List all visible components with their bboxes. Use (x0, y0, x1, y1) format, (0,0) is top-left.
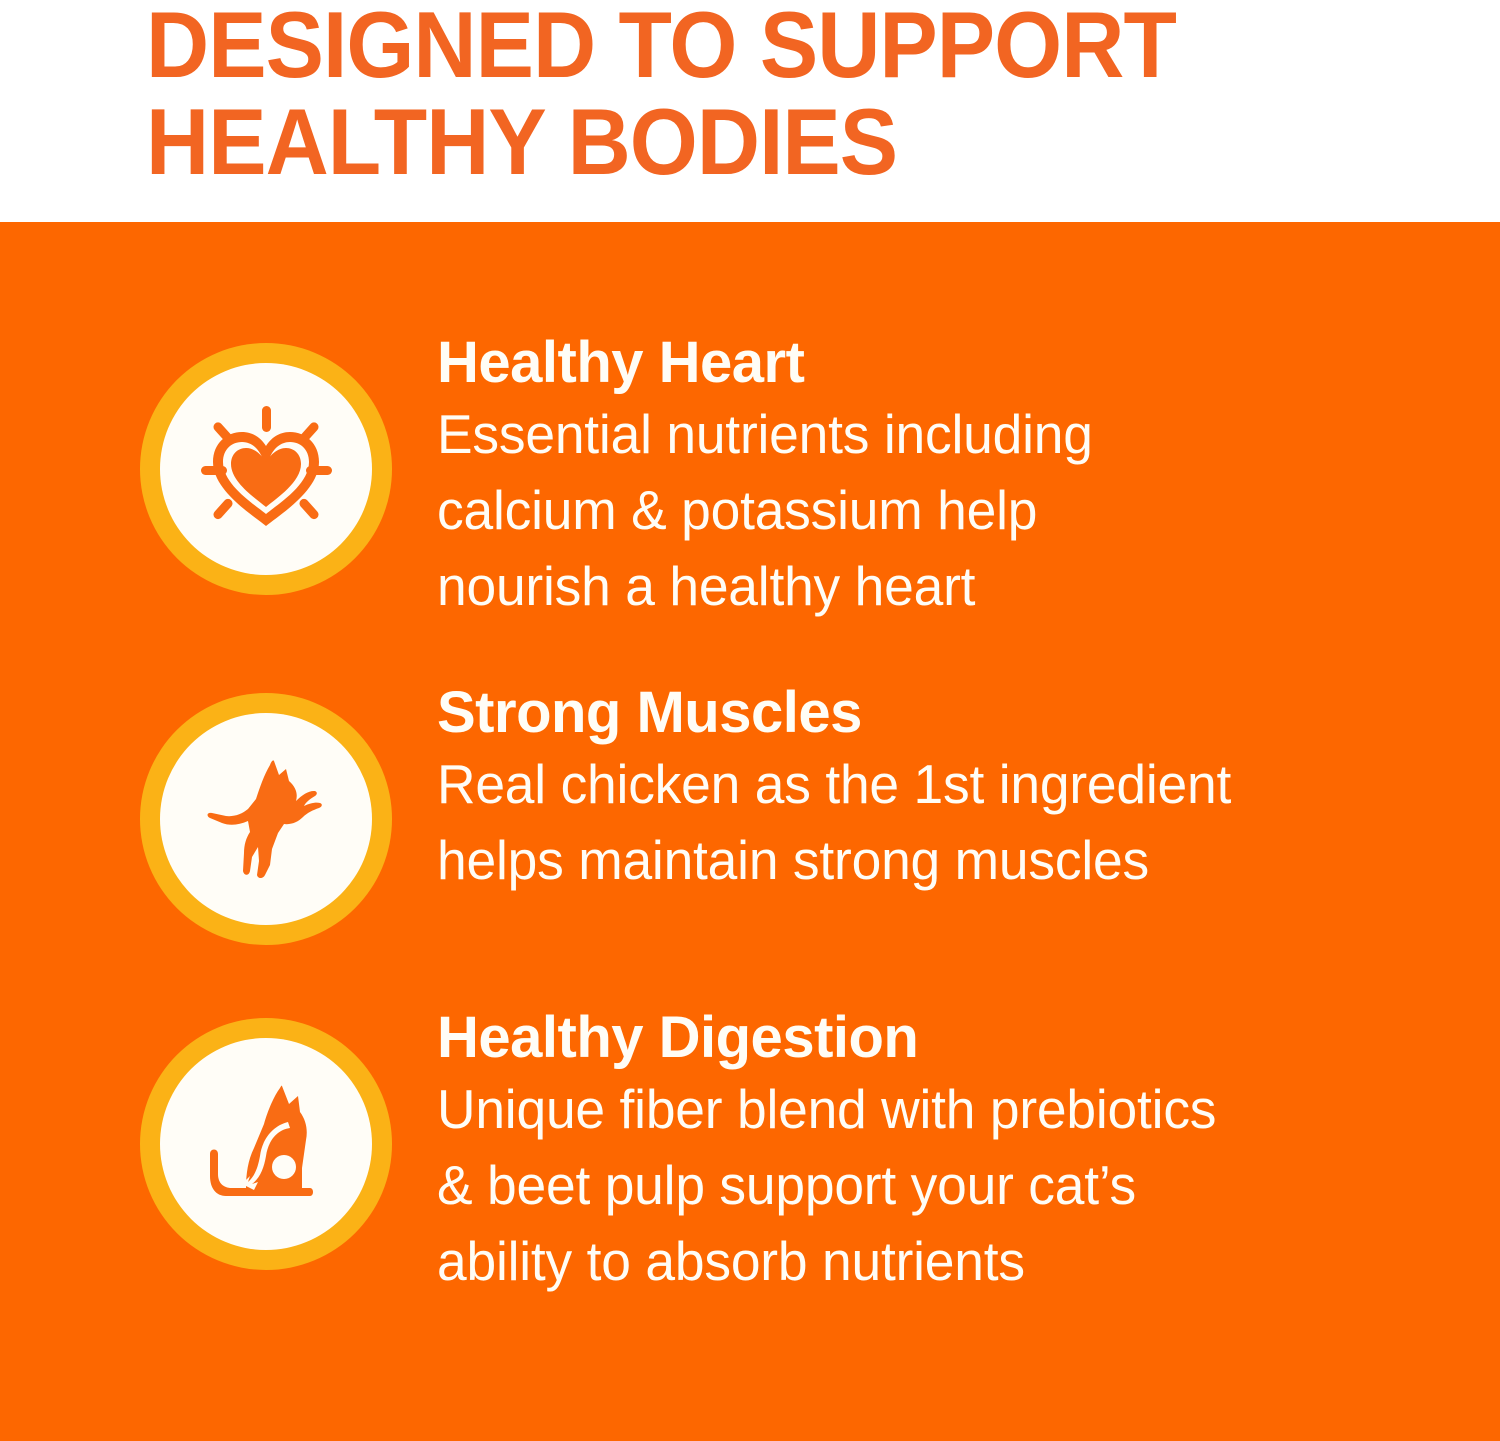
headline-band: DESIGNED TO SUPPORT HEALTHY BODIES (0, 0, 1500, 222)
leaping-cat-icon (186, 739, 346, 899)
feature-title: Healthy Heart (437, 332, 1447, 394)
badge-inner-circle (160, 363, 372, 575)
feature-description: Essential nutrients including calcium & … (437, 396, 1417, 624)
feature-icon-badge (140, 693, 392, 945)
badge-inner-circle (160, 713, 372, 925)
feature-title: Healthy Digestion (437, 1007, 1447, 1069)
feature-text-column: Healthy Heart Essential nutrients includ… (437, 332, 1447, 624)
badge-inner-circle (160, 1038, 372, 1250)
feature-text-column: Strong Muscles Real chicken as the 1st i… (437, 682, 1447, 898)
feature-description: Real chicken as the 1st ingredient helps… (437, 746, 1417, 898)
feature-description: Unique fiber blend with prebiotics & bee… (437, 1071, 1417, 1299)
infographic-page: DESIGNED TO SUPPORT HEALTHY BODIES (0, 0, 1500, 1441)
feature-icon-badge (140, 343, 392, 595)
feature-text-column: Healthy Digestion Unique fiber blend wit… (437, 1007, 1447, 1299)
radiant-heart-icon (191, 394, 341, 544)
page-title: DESIGNED TO SUPPORT HEALTHY BODIES (146, 0, 1262, 190)
feature-title: Strong Muscles (437, 682, 1447, 744)
features-panel: Healthy Heart Essential nutrients includ… (0, 222, 1500, 1441)
feature-icon-badge (140, 1018, 392, 1270)
sitting-cat-digestion-icon (186, 1064, 346, 1224)
